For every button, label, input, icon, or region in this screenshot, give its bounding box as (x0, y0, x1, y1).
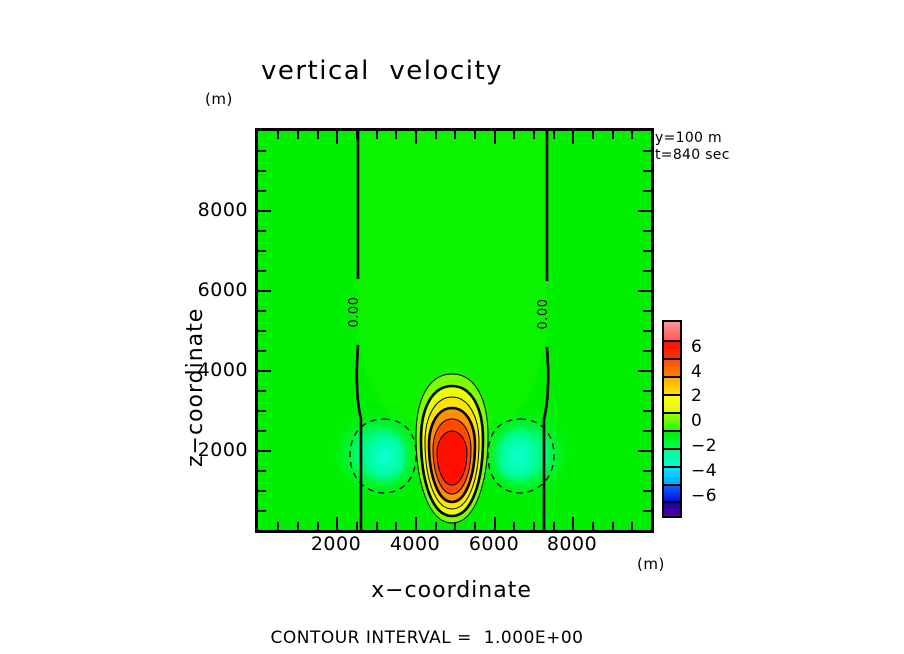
x-tick-top-minor (553, 131, 555, 139)
annotation-t-line: t=840 sec (655, 147, 730, 164)
page-title: vertical velocity (0, 56, 904, 86)
contour-label-left: 0.00 (347, 297, 362, 328)
colorbar-tick-label: 4 (691, 362, 702, 382)
y-tick-minor (258, 410, 266, 412)
y-tick-right-major (638, 290, 651, 292)
y-tick-major (258, 210, 271, 212)
colorbar-band (664, 468, 680, 484)
x-tick-minor (356, 522, 358, 530)
y-tick-label: 8000 (178, 199, 248, 221)
x-tick-minor (533, 522, 535, 530)
figure-canvas: vertical velocity (m) y=100 mt=840 sec (0, 0, 904, 654)
y-tick-right-major (638, 210, 651, 212)
x-tick-top-minor (513, 131, 515, 139)
contour-field-svg: 0.00 0.00 (258, 131, 651, 530)
colorbar-tick-label: 0 (691, 411, 702, 431)
x-tick-minor (631, 522, 633, 530)
plot-annotation: y=100 mt=840 sec (655, 130, 730, 164)
colorbar-tick-label: −4 (691, 461, 717, 481)
x-tick-minor (297, 522, 299, 530)
y-tick-right-minor (643, 310, 651, 312)
x-tick-top-minor (631, 131, 633, 139)
colorbar-band (664, 396, 680, 412)
y-tick-right-minor (643, 350, 651, 352)
x-tick-major (415, 517, 417, 530)
contour-field: 0.00 0.00 (258, 131, 651, 530)
y-tick-right-minor (643, 390, 651, 392)
y-tick-right-minor (643, 490, 651, 492)
x-tick-top-major (572, 131, 574, 144)
y-tick-minor (258, 170, 266, 172)
x-tick-top-minor (474, 131, 476, 139)
x-tick-top-major (336, 131, 338, 144)
y-axis-unit-label: (m) (205, 90, 233, 108)
x-tick-top-major (415, 131, 417, 144)
y-tick-right-major (638, 450, 651, 452)
x-tick-top-minor (356, 131, 358, 139)
annotation-y-line: y=100 m (655, 130, 730, 147)
x-tick-label: 8000 (547, 533, 597, 555)
y-tick-minor (258, 330, 266, 332)
x-tick-top-minor (592, 131, 594, 139)
y-tick-major (258, 450, 271, 452)
colorbar-tick-label: −6 (691, 486, 717, 506)
colorbar-band (664, 414, 680, 430)
colorbar-band (664, 503, 680, 516)
x-tick-minor (395, 522, 397, 530)
y-tick-minor (258, 510, 266, 512)
x-tick-minor (474, 522, 476, 530)
x-tick-top-minor (297, 131, 299, 139)
x-tick-minor (376, 522, 378, 530)
x-tick-top-major (494, 131, 496, 144)
y-tick-right-minor (643, 250, 651, 252)
colorbar-band (664, 486, 680, 501)
colorbar-band (664, 322, 680, 340)
x-tick-top-minor (376, 131, 378, 139)
colorbar (662, 320, 682, 518)
x-tick-top-minor (435, 131, 437, 139)
contour-label-right: 0.00 (536, 299, 551, 330)
contour-plot-area: 0.00 0.00 (255, 128, 654, 533)
y-tick-right-minor (643, 330, 651, 332)
x-tick-minor (277, 522, 279, 530)
y-tick-label: 6000 (178, 279, 248, 301)
y-tick-major (258, 370, 271, 372)
colorbar-band (664, 432, 680, 448)
x-tick-top-minor (612, 131, 614, 139)
y-tick-right-minor (643, 470, 651, 472)
x-tick-top-minor (533, 131, 535, 139)
y-tick-minor (258, 230, 266, 232)
x-tick-top-minor (395, 131, 397, 139)
x-tick-top-minor (317, 131, 319, 139)
contour-interval-text: CONTOUR INTERVAL = 1.000E+00 (270, 628, 633, 648)
x-tick-major (572, 517, 574, 530)
colorbar-band (664, 450, 680, 466)
y-tick-minor (258, 350, 266, 352)
y-tick-right-minor (643, 510, 651, 512)
y-tick-minor (258, 390, 266, 392)
x-tick-minor (592, 522, 594, 530)
y-tick-right-major (638, 370, 651, 372)
y-tick-right-minor (643, 230, 651, 232)
colorbar-tick-label: −2 (691, 436, 717, 456)
x-axis-title: x−coordinate (255, 578, 648, 603)
x-tick-minor (553, 522, 555, 530)
colorbar-band (664, 378, 680, 394)
y-tick-minor (258, 470, 266, 472)
y-tick-minor (258, 150, 266, 152)
colorbar-band (664, 360, 680, 376)
page-title-text: vertical velocity (261, 56, 643, 86)
x-tick-major (494, 517, 496, 530)
x-tick-label: 4000 (390, 533, 440, 555)
x-tick-label: 6000 (469, 533, 519, 555)
x-tick-minor (612, 522, 614, 530)
x-tick-minor (513, 522, 515, 530)
y-tick-minor (258, 250, 266, 252)
x-axis-unit-label: (m) (637, 555, 665, 573)
y-tick-right-minor (643, 410, 651, 412)
y-axis-title: z−coordinate (183, 308, 208, 467)
x-tick-major (336, 517, 338, 530)
colorbar-tick-label: 2 (691, 386, 702, 406)
x-tick-minor (454, 522, 456, 530)
x-tick-top-minor (277, 131, 279, 139)
y-tick-major (258, 290, 271, 292)
y-tick-right-minor (643, 170, 651, 172)
y-tick-right-minor (643, 150, 651, 152)
x-tick-label: 2000 (311, 533, 361, 555)
x-tick-minor (317, 522, 319, 530)
y-tick-minor (258, 190, 266, 192)
y-tick-right-minor (643, 270, 651, 272)
x-tick-minor (435, 522, 437, 530)
y-tick-right-minor (643, 190, 651, 192)
contour-interval-note: CONTOUR INTERVAL = 1.000E+00 (0, 628, 904, 648)
y-tick-minor (258, 310, 266, 312)
y-tick-minor (258, 430, 266, 432)
y-tick-minor (258, 270, 266, 272)
colorbar-tick-label: 6 (691, 337, 702, 357)
x-tick-top-minor (454, 131, 456, 139)
y-tick-minor (258, 490, 266, 492)
y-tick-right-minor (643, 430, 651, 432)
colorbar-band (664, 342, 680, 358)
